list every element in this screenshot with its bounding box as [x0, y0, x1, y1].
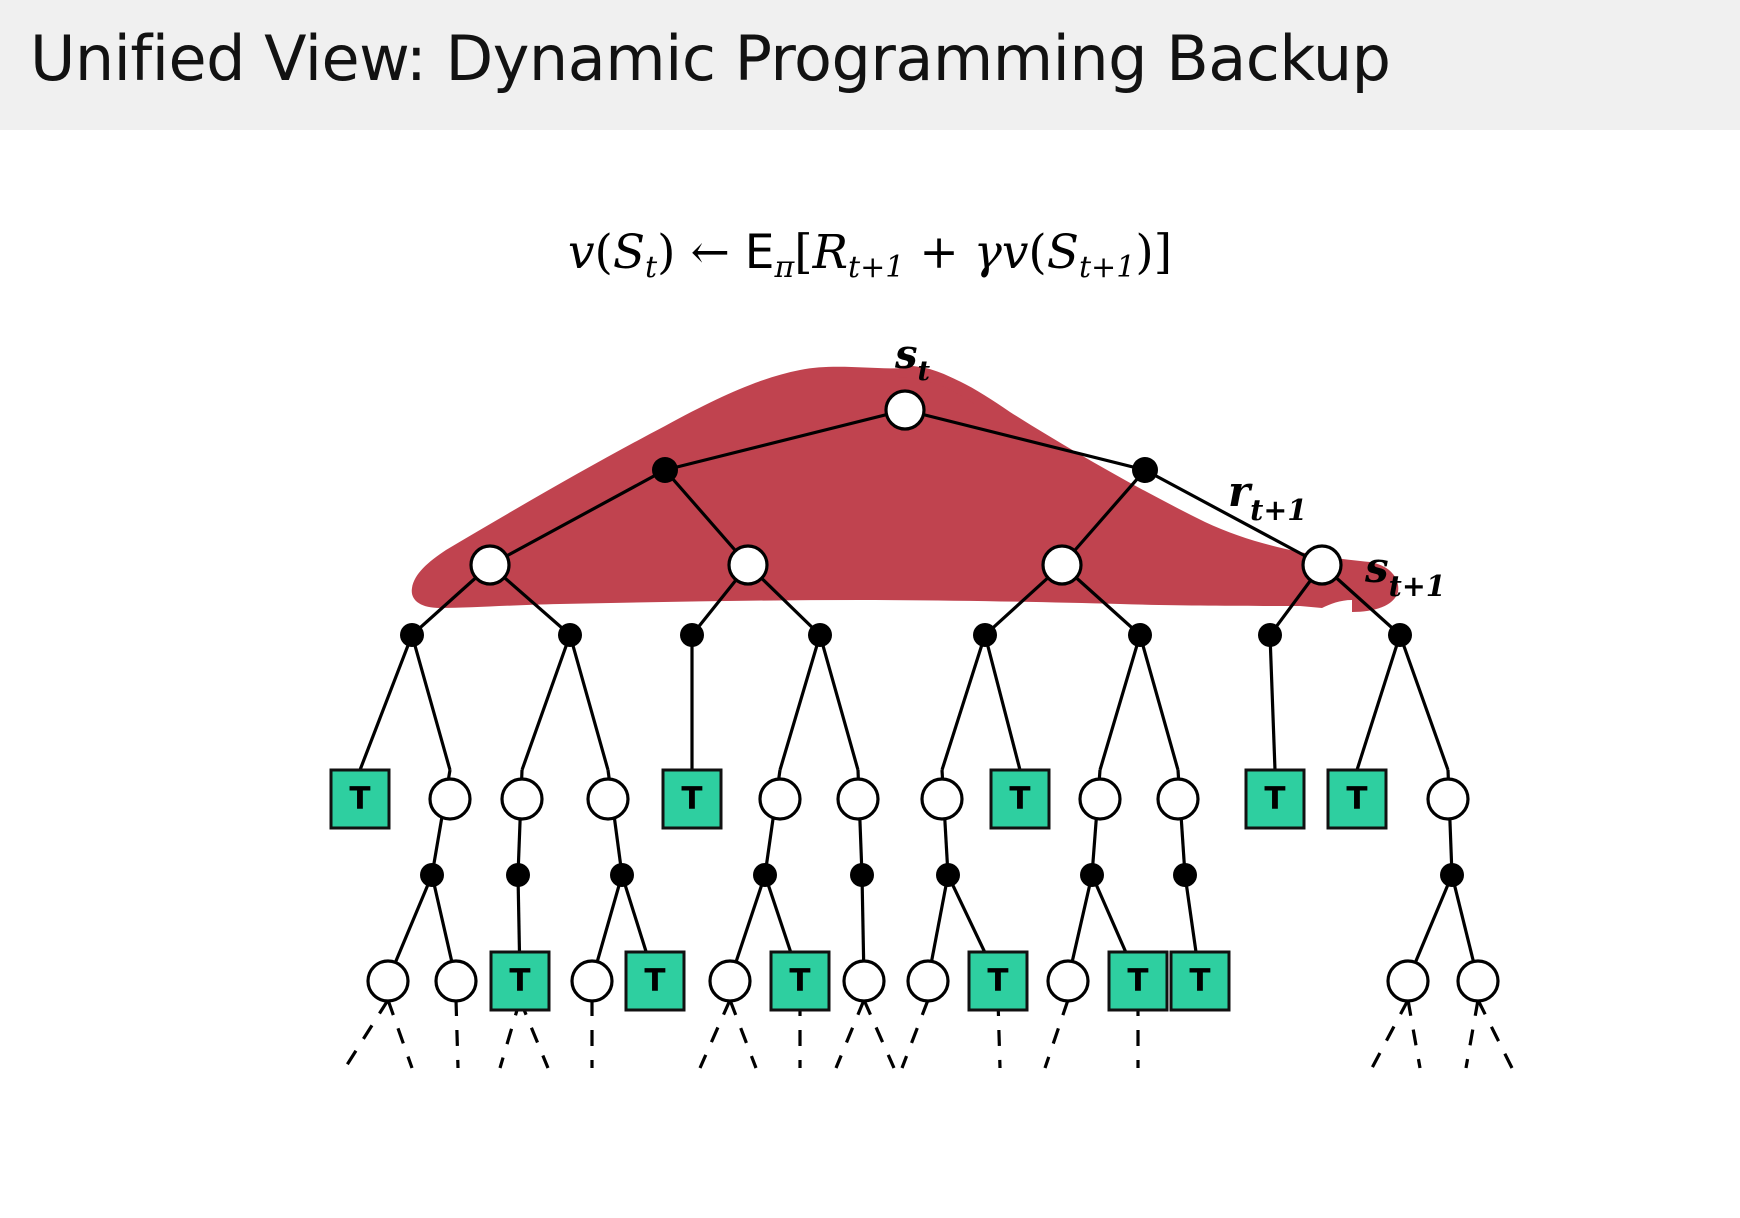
terminal-node: T [771, 952, 829, 1010]
formula-state-sub: t [645, 250, 657, 285]
terminal-node: T [1171, 952, 1229, 1010]
action-node [1440, 863, 1464, 887]
terminal-label: T [1127, 963, 1148, 999]
state-node [368, 961, 408, 1001]
formula-state-sym: S [613, 225, 645, 280]
state-node [1048, 961, 1088, 1001]
state-node [1303, 546, 1341, 584]
reward-label-sub: t+1 [1250, 493, 1307, 527]
state-node [1428, 779, 1468, 819]
terminal-node: T [626, 952, 684, 1010]
action-node [506, 863, 530, 887]
action-node [680, 623, 704, 647]
next-state-label-main: s [1364, 543, 1389, 592]
action-node [558, 623, 582, 647]
reward-label: rt+1 [1228, 467, 1307, 527]
terminal-label: T [644, 963, 665, 999]
state-node [1388, 961, 1428, 1001]
formula-reward-sym: R [813, 225, 848, 280]
next-state-label-sub: t+1 [1389, 569, 1446, 603]
terminal-node: T [663, 770, 721, 828]
state-node [710, 961, 750, 1001]
root-state-label-main: s [894, 331, 918, 378]
formula-plus: + [919, 225, 958, 280]
terminal-node: T [1328, 770, 1386, 828]
backup-formula: v(St) ← Eπ[Rt+1 + γv(St+1)] [0, 225, 1740, 285]
terminal-node: T [969, 952, 1027, 1010]
terminal-node: T [331, 770, 389, 828]
state-node [430, 779, 470, 819]
action-node [973, 623, 997, 647]
terminal-label: T [789, 963, 810, 999]
state-node [502, 779, 542, 819]
state-node [588, 779, 628, 819]
formula-reward-sub: t+1 [848, 250, 904, 285]
terminal-label: T [509, 963, 530, 999]
formula-arrow: ← [690, 225, 729, 280]
terminal-label: T [1346, 781, 1367, 817]
formula-gamma: γ [974, 225, 1002, 280]
terminal-node: T [1246, 770, 1304, 828]
action-node [610, 863, 634, 887]
formula-expectation-sym: E [745, 225, 775, 280]
action-node [400, 623, 424, 647]
action-node [1128, 623, 1152, 647]
action-node [1132, 457, 1158, 483]
action-node [850, 863, 874, 887]
formula-value-fn: v [568, 225, 595, 280]
terminal-label: T [1189, 963, 1210, 999]
terminal-node: T [491, 952, 549, 1010]
formula-bracket-close: ] [1154, 225, 1172, 280]
state-node [838, 779, 878, 819]
state-node [922, 779, 962, 819]
formula-next-state-sub: t+1 [1079, 250, 1135, 285]
state-node [436, 961, 476, 1001]
action-node [1080, 863, 1104, 887]
action-node [936, 863, 960, 887]
terminal-label: T [1009, 781, 1030, 817]
state-node [1158, 779, 1198, 819]
page-title: Unified View: Dynamic Programming Backup [30, 22, 1390, 95]
action-node [1258, 623, 1282, 647]
state-node [572, 961, 612, 1001]
terminal-label: T [987, 963, 1008, 999]
backup-diagram: T T T T T T T [0, 300, 1740, 1090]
state-node [1043, 546, 1081, 584]
state-node [908, 961, 948, 1001]
formula-state-sym-2: S [1047, 225, 1079, 280]
state-node [760, 779, 800, 819]
state-node [729, 546, 767, 584]
action-node [652, 457, 678, 483]
formula-policy-sub: π [774, 250, 794, 285]
terminal-label: T [1264, 781, 1285, 817]
state-node [1458, 961, 1498, 1001]
state-node [471, 546, 509, 584]
action-node [808, 623, 832, 647]
terminal-label: T [681, 781, 702, 817]
action-node [1388, 623, 1412, 647]
terminal-node: T [1109, 952, 1167, 1010]
formula-value-fn-2: v [1002, 225, 1029, 280]
formula-bracket-open: [ [794, 225, 812, 280]
root-state-label-sub: t [918, 355, 931, 387]
action-node [753, 863, 777, 887]
action-node [420, 863, 444, 887]
terminal-label: T [349, 781, 370, 817]
terminal-node: T [991, 770, 1049, 828]
root-state-node [886, 391, 924, 429]
state-node [1080, 779, 1120, 819]
action-node [1173, 863, 1197, 887]
state-node [844, 961, 884, 1001]
